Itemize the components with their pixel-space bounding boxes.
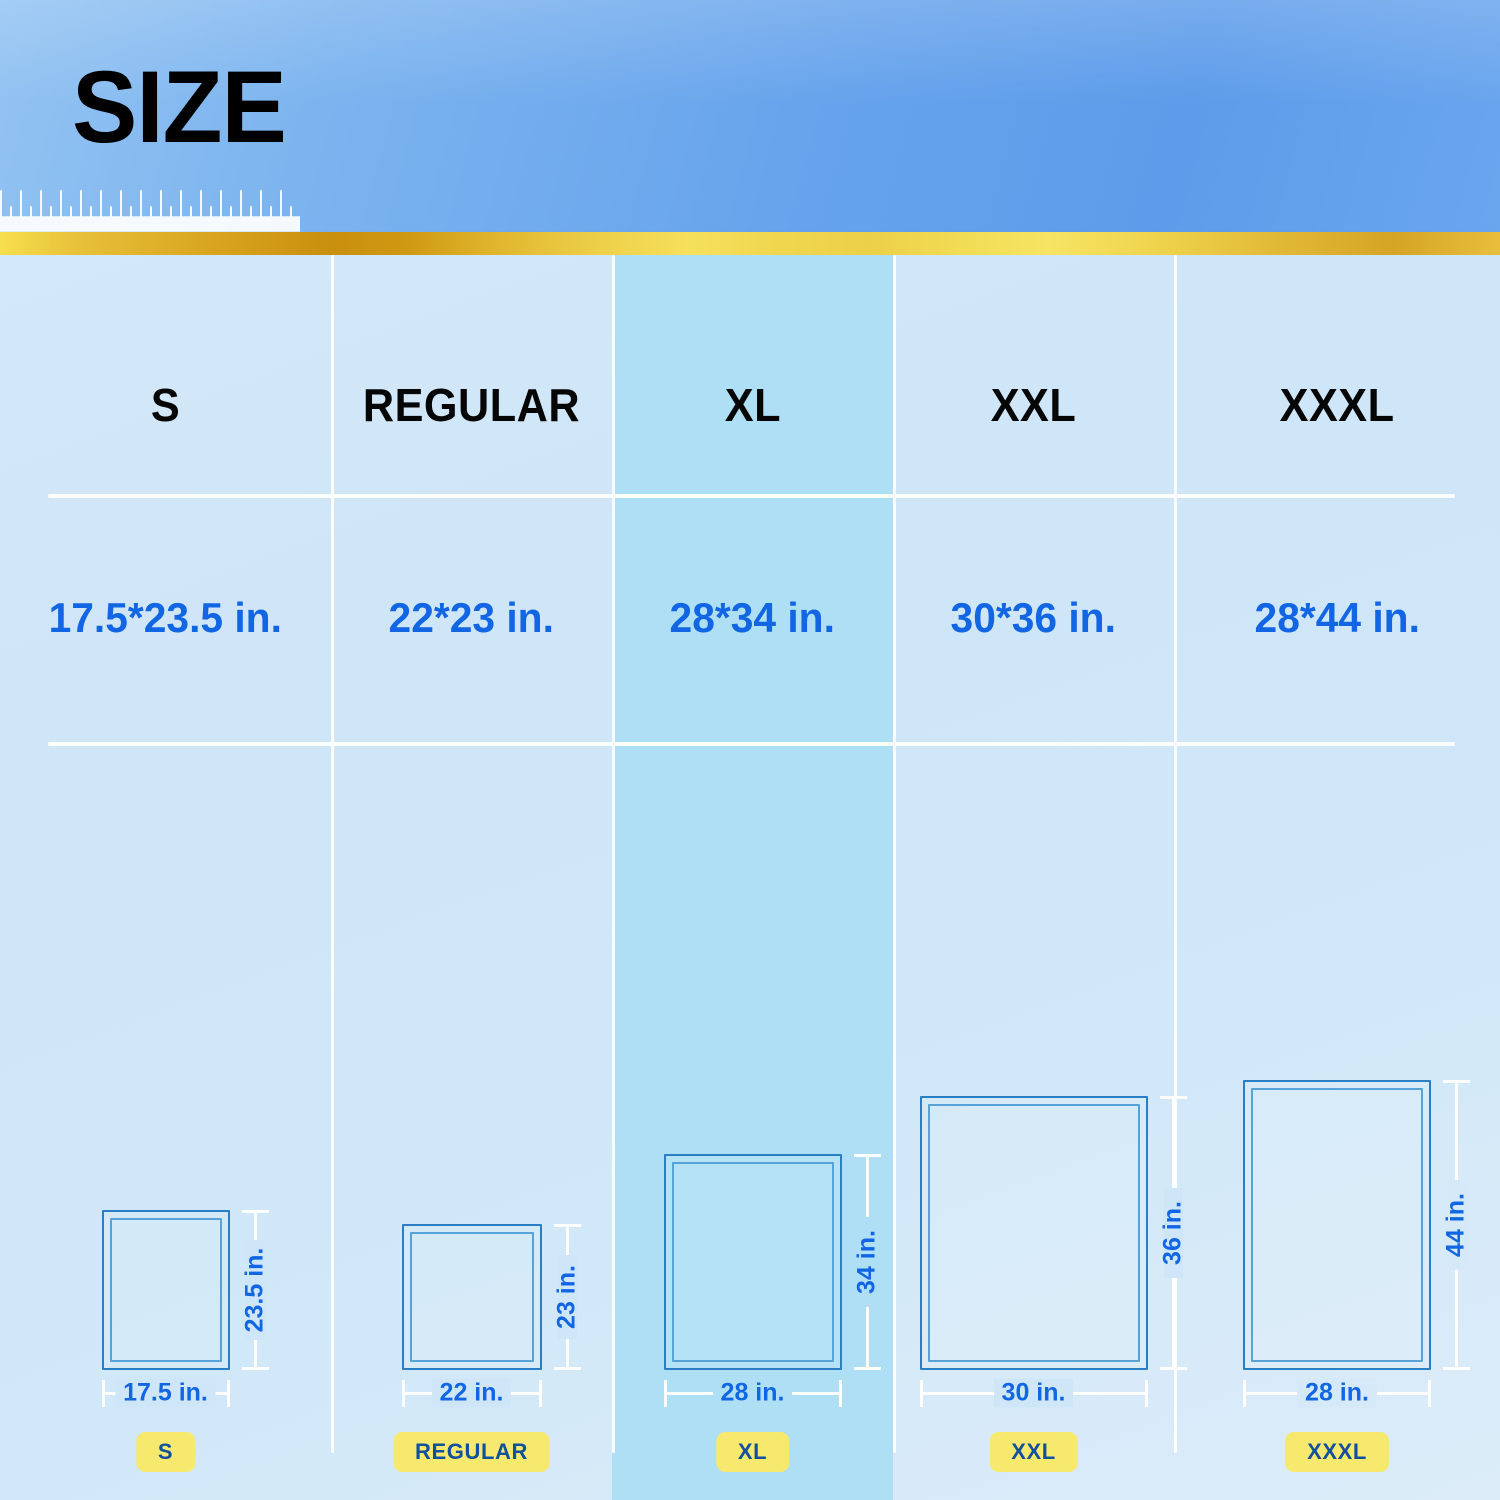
width-label: 17.5 in.	[115, 1379, 216, 1408]
dimension-label: 22*23 in.	[389, 594, 554, 642]
dimension-cell-xxl: 30*36 in.	[893, 494, 1174, 742]
shape-wrap-s: 23.5 in. 17.5 in.	[102, 1210, 230, 1370]
size-rectangle-inner-xl	[672, 1162, 834, 1362]
dimension-cap-right	[1145, 1380, 1148, 1407]
width-dimension-s: 17.5 in.	[102, 1376, 230, 1410]
row-diagrams: 23.5 in. 17.5 in. S	[0, 742, 1500, 1500]
height-label: 23.5 in.	[240, 1242, 269, 1339]
dimension-cell-xxxl: 28*44 in.	[1174, 494, 1500, 742]
dimension-cap-top	[242, 1210, 269, 1213]
diagram-stack-xxl: 36 in. 30 in. XXL	[920, 1096, 1148, 1370]
dimension-label: 17.5*23.5 in.	[49, 594, 282, 642]
size-chart-infographic: SIZE S REGULAR XL	[0, 0, 1500, 1500]
width-label: 30 in.	[994, 1379, 1074, 1408]
size-name-label: XL	[724, 378, 780, 432]
size-rectangle-xxl	[920, 1096, 1148, 1370]
ruler-ticks-icon	[0, 172, 1500, 232]
row-dimensions: 17.5*23.5 in. 22*23 in. 28*34 in. 30*36 …	[0, 494, 1500, 742]
dimension-cap-left	[402, 1380, 405, 1407]
dimension-cap-bottom	[554, 1367, 581, 1370]
diagram-cell-s: 23.5 in. 17.5 in. S	[0, 742, 331, 1500]
dimension-cell-s: 17.5*23.5 in.	[0, 494, 331, 742]
diagram-stack-xl: 34 in. 28 in. XL	[664, 1154, 842, 1370]
dimension-label: 30*36 in.	[951, 594, 1116, 642]
size-rectangle-xxxl	[1243, 1080, 1431, 1370]
dimension-cell-regular: 22*23 in.	[331, 494, 612, 742]
row-size-names: S REGULAR XL XXL XXXL	[0, 255, 1500, 494]
shape-wrap-regular: 23 in. 22 in.	[402, 1224, 542, 1370]
size-badge-s[interactable]: S	[136, 1432, 195, 1472]
page-title: SIZE	[72, 56, 286, 158]
dimension-cap-top	[854, 1154, 881, 1157]
dimension-cap-right	[1428, 1380, 1431, 1407]
header-cell-xxl[interactable]: XXL	[893, 255, 1174, 494]
header-cell-xxxl[interactable]: XXXL	[1174, 255, 1500, 494]
dimension-cap-left	[920, 1380, 923, 1407]
diagram-stack-xxxl: 44 in. 28 in. XXXL	[1243, 1080, 1431, 1370]
diagram-cell-xl: 34 in. 28 in. XL	[612, 742, 893, 1500]
header-cell-s[interactable]: S	[0, 255, 331, 494]
size-rectangle-inner-xxl	[928, 1104, 1140, 1362]
size-name-label: REGULAR	[363, 378, 580, 432]
size-rectangle-inner-s	[110, 1218, 222, 1362]
height-label: 23 in.	[552, 1259, 581, 1335]
dimension-label: 28*34 in.	[670, 594, 835, 642]
ruler-tick	[298, 216, 300, 232]
header-cell-regular[interactable]: REGULAR	[331, 255, 612, 494]
size-badge-regular[interactable]: REGULAR	[393, 1432, 550, 1472]
size-name-label: XXL	[991, 378, 1077, 432]
width-label: 28 in.	[713, 1379, 793, 1408]
size-rectangle-xl	[664, 1154, 842, 1370]
width-dimension-regular: 22 in.	[402, 1376, 542, 1410]
header-banner: SIZE	[0, 0, 1500, 232]
shape-wrap-xl: 34 in. 28 in.	[664, 1154, 842, 1370]
dimension-cap-left	[664, 1380, 667, 1407]
diagram-cell-xxl: 36 in. 30 in. XXL	[893, 742, 1174, 1500]
diagram-cell-xxxl: 44 in. 28 in. XXXL	[1174, 742, 1500, 1500]
dimension-label: 28*44 in.	[1254, 594, 1419, 642]
width-label: 22 in.	[432, 1379, 512, 1408]
width-label: 28 in.	[1297, 1379, 1377, 1408]
width-dimension-xxl: 30 in.	[920, 1376, 1148, 1410]
height-dimension-xl: 34 in.	[850, 1154, 884, 1370]
dimension-cap-bottom	[1443, 1367, 1470, 1370]
size-rectangle-s	[102, 1210, 230, 1370]
dimension-cap-right	[839, 1380, 842, 1407]
height-dimension-s: 23.5 in.	[238, 1210, 272, 1370]
dimension-cap-top	[1443, 1080, 1470, 1083]
size-table: S REGULAR XL XXL XXXL 17.5*23.5 in. 22*2…	[0, 255, 1500, 1500]
dimension-cap-right	[539, 1380, 542, 1407]
dimension-cap-top	[554, 1224, 581, 1227]
diagram-stack-s: 23.5 in. 17.5 in. S	[102, 1210, 230, 1370]
shape-wrap-xxxl: 44 in. 28 in.	[1243, 1080, 1431, 1370]
shape-wrap-xxl: 36 in. 30 in.	[920, 1096, 1148, 1370]
size-badge-xxl[interactable]: XXL	[989, 1432, 1078, 1472]
dimension-cap-left	[102, 1380, 105, 1407]
size-badge-xl[interactable]: XL	[716, 1432, 789, 1472]
gold-ruler-bar-icon	[0, 232, 1500, 255]
height-label: 34 in.	[852, 1224, 881, 1300]
size-name-label: XXXL	[1280, 378, 1395, 432]
size-badge-xxxl[interactable]: XXXL	[1285, 1432, 1389, 1472]
dimension-cap-bottom	[854, 1367, 881, 1370]
height-label: 44 in.	[1442, 1187, 1471, 1263]
height-dimension-regular: 23 in.	[550, 1224, 584, 1370]
size-name-label: S	[151, 378, 180, 432]
width-dimension-xl: 28 in.	[664, 1376, 842, 1410]
height-dimension-xxxl: 44 in.	[1439, 1080, 1473, 1370]
size-rectangle-regular	[402, 1224, 542, 1370]
diagram-stack-regular: 23 in. 22 in. REGULAR	[402, 1224, 542, 1370]
dimension-cap-right	[227, 1380, 230, 1407]
dimension-cap-left	[1243, 1380, 1246, 1407]
dimension-cap-bottom	[242, 1367, 269, 1370]
diagram-cell-regular: 23 in. 22 in. REGULAR	[331, 742, 612, 1500]
size-rectangle-inner-regular	[410, 1232, 534, 1362]
header-cell-xl[interactable]: XL	[612, 255, 893, 494]
width-dimension-xxxl: 28 in.	[1243, 1376, 1431, 1410]
dimension-cell-xl: 28*34 in.	[612, 494, 893, 742]
size-rectangle-inner-xxxl	[1251, 1088, 1423, 1362]
